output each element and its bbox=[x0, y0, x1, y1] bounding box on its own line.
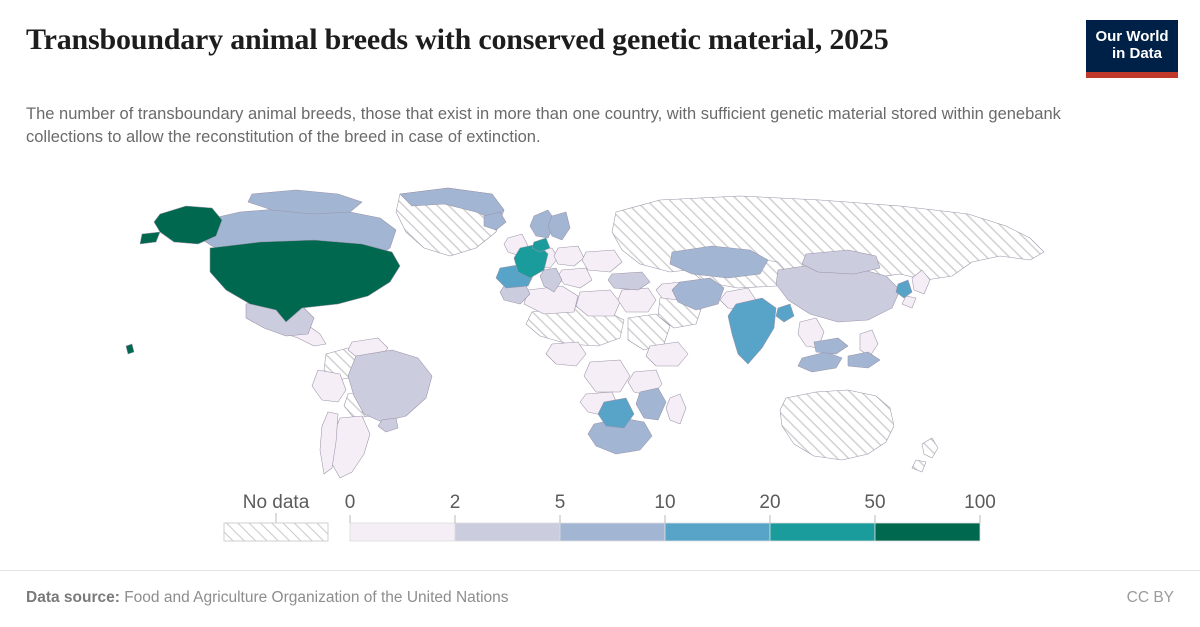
logo-line-2: in Data bbox=[1102, 46, 1162, 63]
chart-subtitle: The number of transboundary animal breed… bbox=[26, 103, 1101, 149]
legend-bin-2 bbox=[560, 523, 665, 541]
page-title: Transboundary animal breeds with conserv… bbox=[26, 22, 1046, 58]
country-south-korea[interactable] bbox=[896, 280, 912, 298]
legend-tick-0: 0 bbox=[345, 492, 356, 513]
country-indonesia[interactable] bbox=[798, 352, 880, 372]
country-egypt[interactable] bbox=[618, 288, 656, 312]
legend-bin-1 bbox=[455, 523, 560, 541]
country-alaska[interactable] bbox=[140, 206, 222, 244]
logo-line-1: Our World bbox=[1095, 29, 1168, 46]
legend-bin-5 bbox=[875, 523, 980, 541]
legend-tick-labels: 0 2 5 10 20 50 100 bbox=[345, 492, 996, 513]
country-congo[interactable] bbox=[584, 360, 630, 392]
country-australia[interactable] bbox=[780, 390, 894, 460]
data-source-value: Food and Agriculture Organization of the… bbox=[124, 589, 508, 606]
country-ethiopia[interactable] bbox=[646, 342, 688, 366]
country-turkey[interactable] bbox=[608, 272, 650, 290]
legend-bin-4 bbox=[770, 523, 875, 541]
legend-tick-100: 100 bbox=[964, 492, 996, 513]
country-madagascar[interactable] bbox=[666, 394, 686, 424]
map-svg[interactable] bbox=[100, 186, 1100, 486]
data-source: Data source: Food and Agriculture Organi… bbox=[26, 589, 509, 607]
legend-bins bbox=[350, 523, 980, 541]
data-source-label: Data source: bbox=[26, 589, 120, 606]
country-poland[interactable] bbox=[554, 246, 584, 266]
chart-footer: Data source: Food and Agriculture Organi… bbox=[0, 570, 1200, 627]
country-balkans[interactable] bbox=[558, 268, 592, 288]
legend-tick-20: 20 bbox=[759, 492, 780, 513]
country-mozambique[interactable] bbox=[636, 388, 666, 420]
country-india[interactable] bbox=[728, 298, 776, 364]
world-choropleth-map[interactable] bbox=[0, 186, 1200, 486]
legend-tick-50: 50 bbox=[864, 492, 885, 513]
country-nigeria[interactable] bbox=[546, 342, 586, 366]
country-philippines[interactable] bbox=[860, 330, 878, 356]
map-legend[interactable]: No data 0 2 5 10 20 50 100 bbox=[0, 486, 1200, 550]
license-label[interactable]: CC BY bbox=[1127, 589, 1174, 607]
legend-bin-3 bbox=[665, 523, 770, 541]
country-bangladesh[interactable] bbox=[776, 304, 794, 322]
legend-tick-5: 5 bbox=[555, 492, 566, 513]
legend-no-data-label: No data bbox=[243, 492, 310, 513]
legend-tick-10: 10 bbox=[654, 492, 675, 513]
our-world-in-data-logo[interactable]: Our World in Data bbox=[1086, 20, 1178, 78]
country-hawaii[interactable] bbox=[126, 344, 134, 354]
country-ukraine[interactable] bbox=[582, 250, 622, 272]
legend-no-data-swatch bbox=[224, 523, 328, 541]
country-new-zealand[interactable] bbox=[912, 438, 938, 472]
legend-bin-0 bbox=[350, 523, 455, 541]
legend-tick-2: 2 bbox=[450, 492, 461, 513]
legend-svg[interactable]: No data 0 2 5 10 20 50 100 bbox=[200, 486, 1000, 550]
legend-ticks bbox=[350, 515, 980, 523]
